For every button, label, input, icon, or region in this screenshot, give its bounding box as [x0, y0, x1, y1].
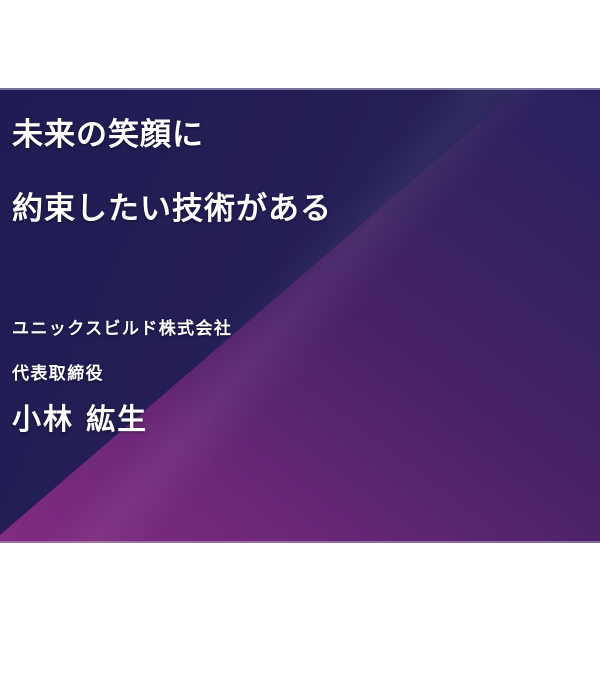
- hero-banner: 未来の笑顔に 約束したい技術がある ユニックスビルド株式会社 代表取締役 小林 …: [0, 88, 600, 543]
- speaker-job-title: 代表取締役: [12, 359, 104, 384]
- headline-line-2: 約束したい技術がある: [12, 192, 332, 226]
- hero-text-layer: 未来の笑顔に 約束したい技術がある ユニックスビルド株式会社 代表取締役 小林 …: [0, 88, 600, 543]
- speaker-company-name: ユニックスビルド株式会社: [12, 314, 232, 339]
- speaker-person-name: 小林 紘生: [12, 396, 148, 438]
- headline-line-1: 未来の笑顔に: [12, 118, 204, 152]
- slide-canvas: 未来の笑顔に 約束したい技術がある ユニックスビルド株式会社 代表取締役 小林 …: [0, 0, 600, 693]
